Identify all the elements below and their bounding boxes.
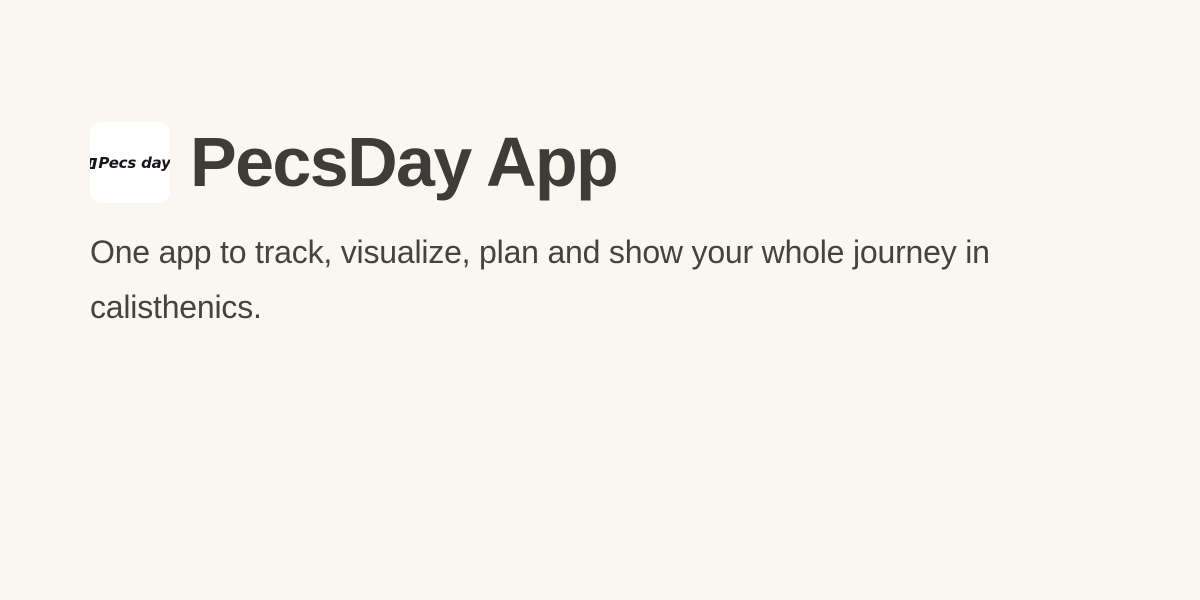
pecsday-logo-icon: Pecs day (90, 122, 170, 203)
logo-wordmark: Pecs day (98, 156, 170, 171)
hero-section: Pecs day PecsDay App One app to track, v… (90, 122, 1110, 335)
app-landing-page: Pecs day PecsDay App One app to track, v… (0, 0, 1200, 600)
app-identity-row: Pecs day PecsDay App (90, 122, 1110, 203)
page-title: PecsDay App (190, 122, 617, 203)
logo-slash-mark-icon (90, 158, 97, 169)
app-tagline: One app to track, visualize, plan and sh… (90, 225, 1050, 335)
logo-lockup: Pecs day (90, 156, 170, 171)
